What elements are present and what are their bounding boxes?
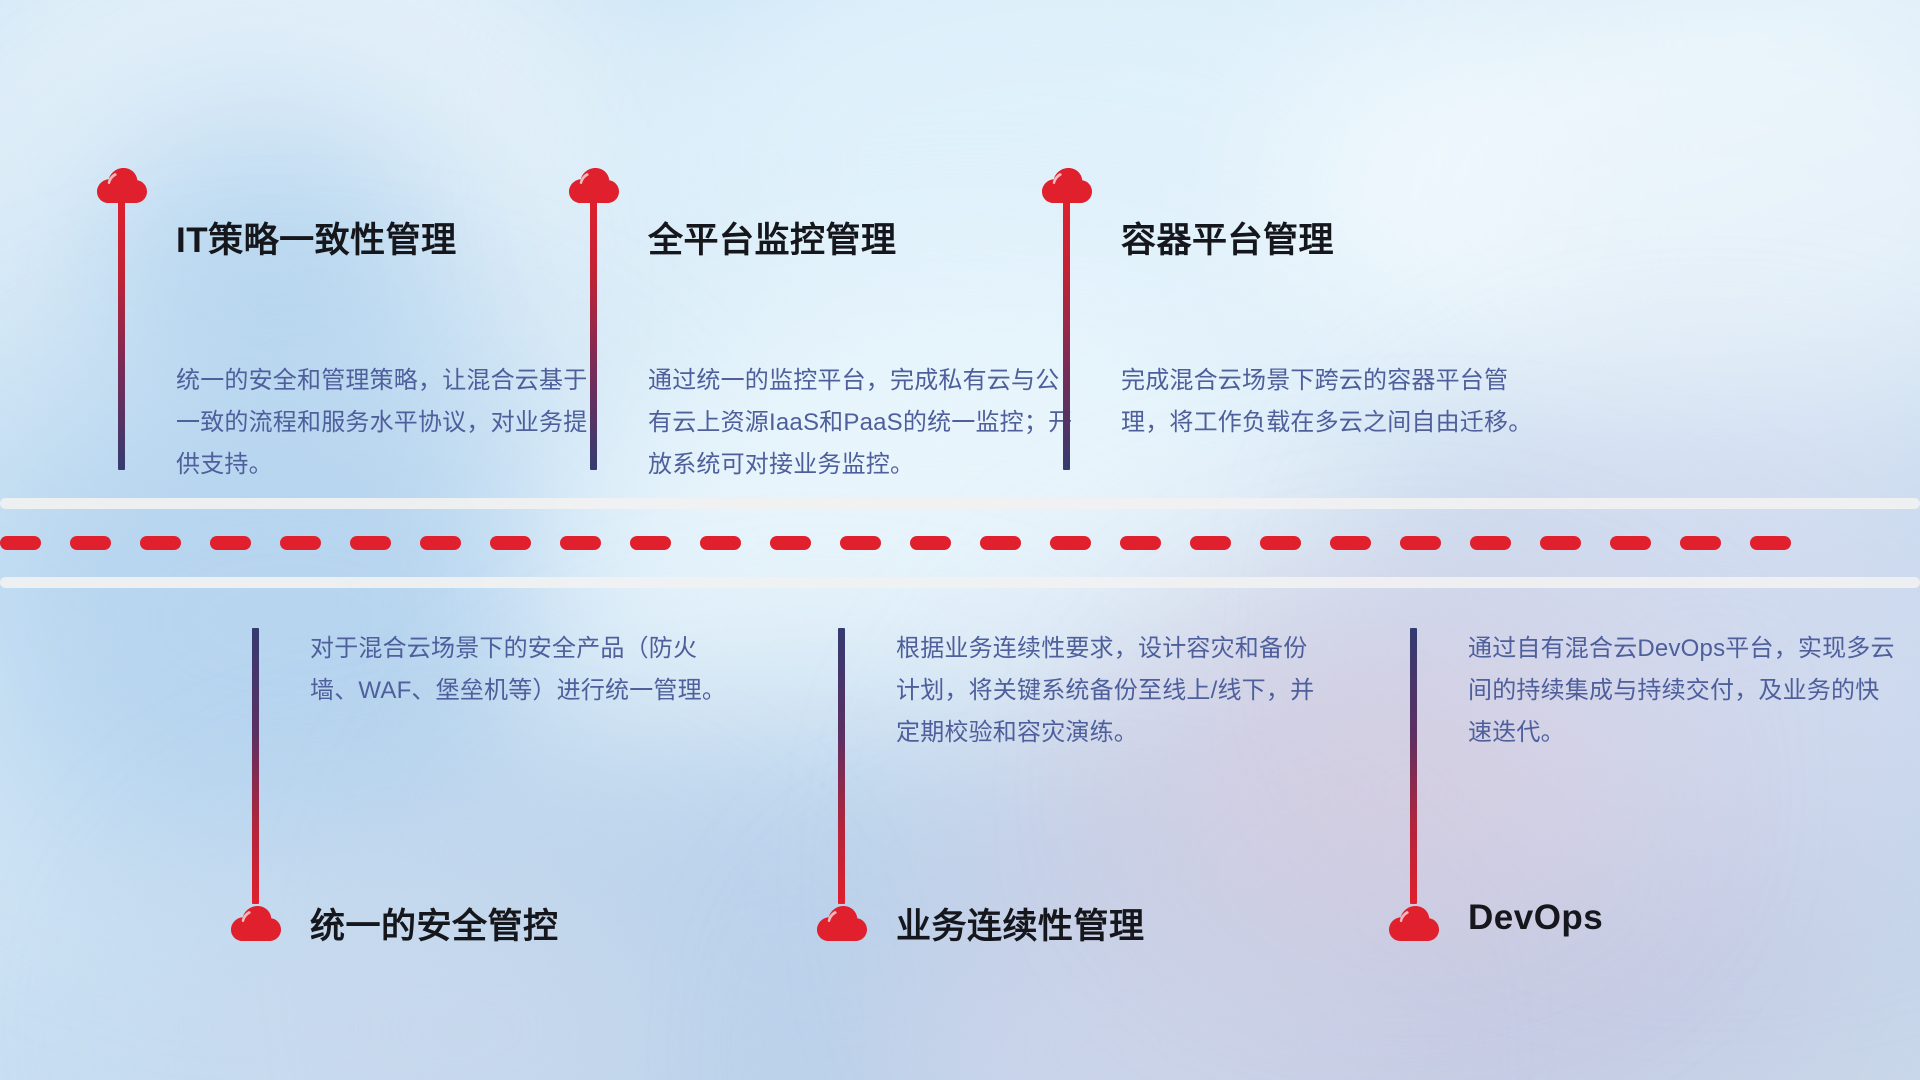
road-dash-segment	[1120, 536, 1161, 550]
feature-description: 完成混合云场景下跨云的容器平台管理，将工作负载在多云之间自由迁移。	[1121, 360, 1551, 444]
road-dash-segment	[1470, 536, 1511, 550]
connector-line	[1063, 196, 1070, 470]
road-dash-segment	[70, 536, 111, 550]
road-edge-top	[0, 498, 1920, 509]
road-dash-segment	[1190, 536, 1231, 550]
road-dash-segment	[1330, 536, 1371, 550]
connector-line	[590, 196, 597, 470]
road-dash-segment	[1050, 536, 1091, 550]
connector-line	[252, 628, 259, 904]
top-feature-row: IT策略一致性管理 统一的安全和管理策略，让混合云基于一致的流程和服务水平协议，…	[0, 0, 1920, 498]
road-dash-segment	[350, 536, 391, 550]
road-dash-segment	[1400, 536, 1441, 550]
road-dash-segment	[840, 536, 881, 550]
road-dash-segment	[140, 536, 181, 550]
road-dash-segment	[1680, 536, 1721, 550]
road-dash-segment	[280, 536, 321, 550]
road-dash-segment	[0, 536, 41, 550]
feature-description: 统一的安全和管理策略，让混合云基于一致的流程和服务水平协议，对业务提供支持。	[176, 360, 606, 486]
feature-description: 根据业务连续性要求，设计容灾和备份计划，将关键系统备份至线上/线下，并定期校验和…	[896, 628, 1326, 754]
cloud-icon	[814, 898, 870, 942]
feature-title: 容器平台管理	[1121, 212, 1334, 263]
road-dash-segment	[490, 536, 531, 550]
road-dash-segment	[980, 536, 1021, 550]
feature-description: 通过统一的监控平台，完成私有云与公有云上资源IaaS和PaaS的统一监控；开放系…	[648, 360, 1078, 486]
road-dash-segment	[210, 536, 251, 550]
bottom-feature-row: 对于混合云场景下的安全产品（防火墙、WAF、堡垒机等）进行统一管理。 统一的安全…	[0, 588, 1920, 1080]
road-dash-segment	[700, 536, 741, 550]
road-dash-segment	[630, 536, 671, 550]
road-dash-segment	[1610, 536, 1651, 550]
road-edge-bottom	[0, 577, 1920, 588]
cloud-icon	[1386, 898, 1442, 942]
connector-line	[1410, 628, 1417, 904]
feature-title: 统一的安全管控	[310, 898, 559, 949]
road-dash-segment	[1750, 536, 1791, 550]
road-center-dashes	[0, 536, 1920, 550]
road-dash-segment	[910, 536, 951, 550]
road-dash-segment	[1540, 536, 1581, 550]
road-dash-segment	[770, 536, 811, 550]
connector-line	[118, 196, 125, 470]
feature-description: 对于混合云场景下的安全产品（防火墙、WAF、堡垒机等）进行统一管理。	[310, 628, 740, 712]
feature-description: 通过自有混合云DevOps平台，实现多云间的持续集成与持续交付，及业务的快速迭代…	[1468, 628, 1898, 754]
feature-title: DevOps	[1468, 898, 1603, 938]
road-dash-segment	[560, 536, 601, 550]
connector-line	[838, 628, 845, 904]
road-divider	[0, 498, 1920, 588]
feature-title: 业务连续性管理	[896, 898, 1145, 949]
road-dash-segment	[1260, 536, 1301, 550]
feature-title: 全平台监控管理	[648, 212, 897, 263]
feature-title: IT策略一致性管理	[176, 212, 457, 263]
cloud-icon	[228, 898, 284, 942]
road-dash-segment	[420, 536, 461, 550]
